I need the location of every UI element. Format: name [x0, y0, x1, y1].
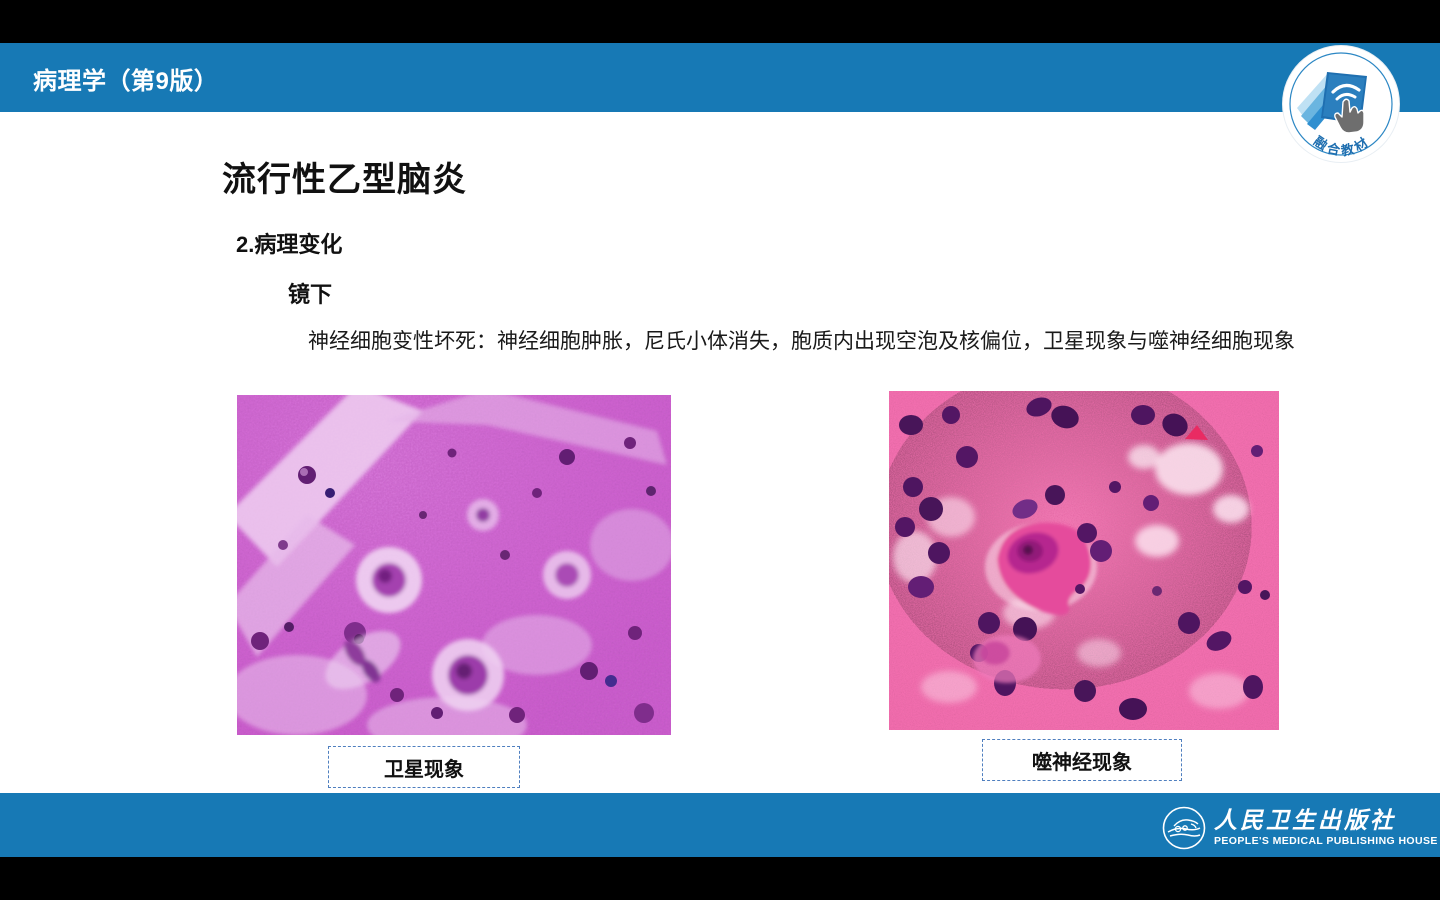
fusion-textbook-badge-icon: 融合教材 — [1283, 46, 1399, 162]
slide-canvas: 病理学（第9版） 融合教材 流行性乙型脑 — [0, 0, 1440, 900]
publisher-name-en: PEOPLE'S MEDICAL PUBLISHING HOUSE — [1214, 836, 1438, 847]
pmph-emblem-icon — [1162, 806, 1206, 850]
body-paragraph: 神经细胞变性坏死：神经细胞肿胀，尼氏小体消失，胞质内出现空泡及核偏位，卫星现象与… — [308, 318, 1338, 366]
publisher-name-cn: 人民卫生出版社 — [1214, 809, 1438, 832]
header-title: 病理学（第9版） — [33, 61, 218, 96]
figure-caption-right-label: 噬神经现象 — [1032, 746, 1132, 775]
figure-caption-right: 噬神经现象 — [982, 739, 1182, 781]
sub-heading: 镜下 — [288, 277, 332, 309]
letterbox-top — [0, 0, 1440, 43]
figure-caption-left-label: 卫星现象 — [384, 753, 464, 782]
neuronophagia-micrograph — [889, 391, 1279, 730]
letterbox-bottom — [0, 857, 1440, 900]
section-heading: 2.病理变化 — [236, 227, 342, 259]
figure-caption-left: 卫星现象 — [328, 746, 520, 788]
satellitosis-micrograph — [237, 395, 671, 735]
publisher-logo: 人民卫生出版社 PEOPLE'S MEDICAL PUBLISHING HOUS… — [1162, 806, 1420, 850]
page-title: 流行性乙型脑炎 — [222, 152, 467, 201]
